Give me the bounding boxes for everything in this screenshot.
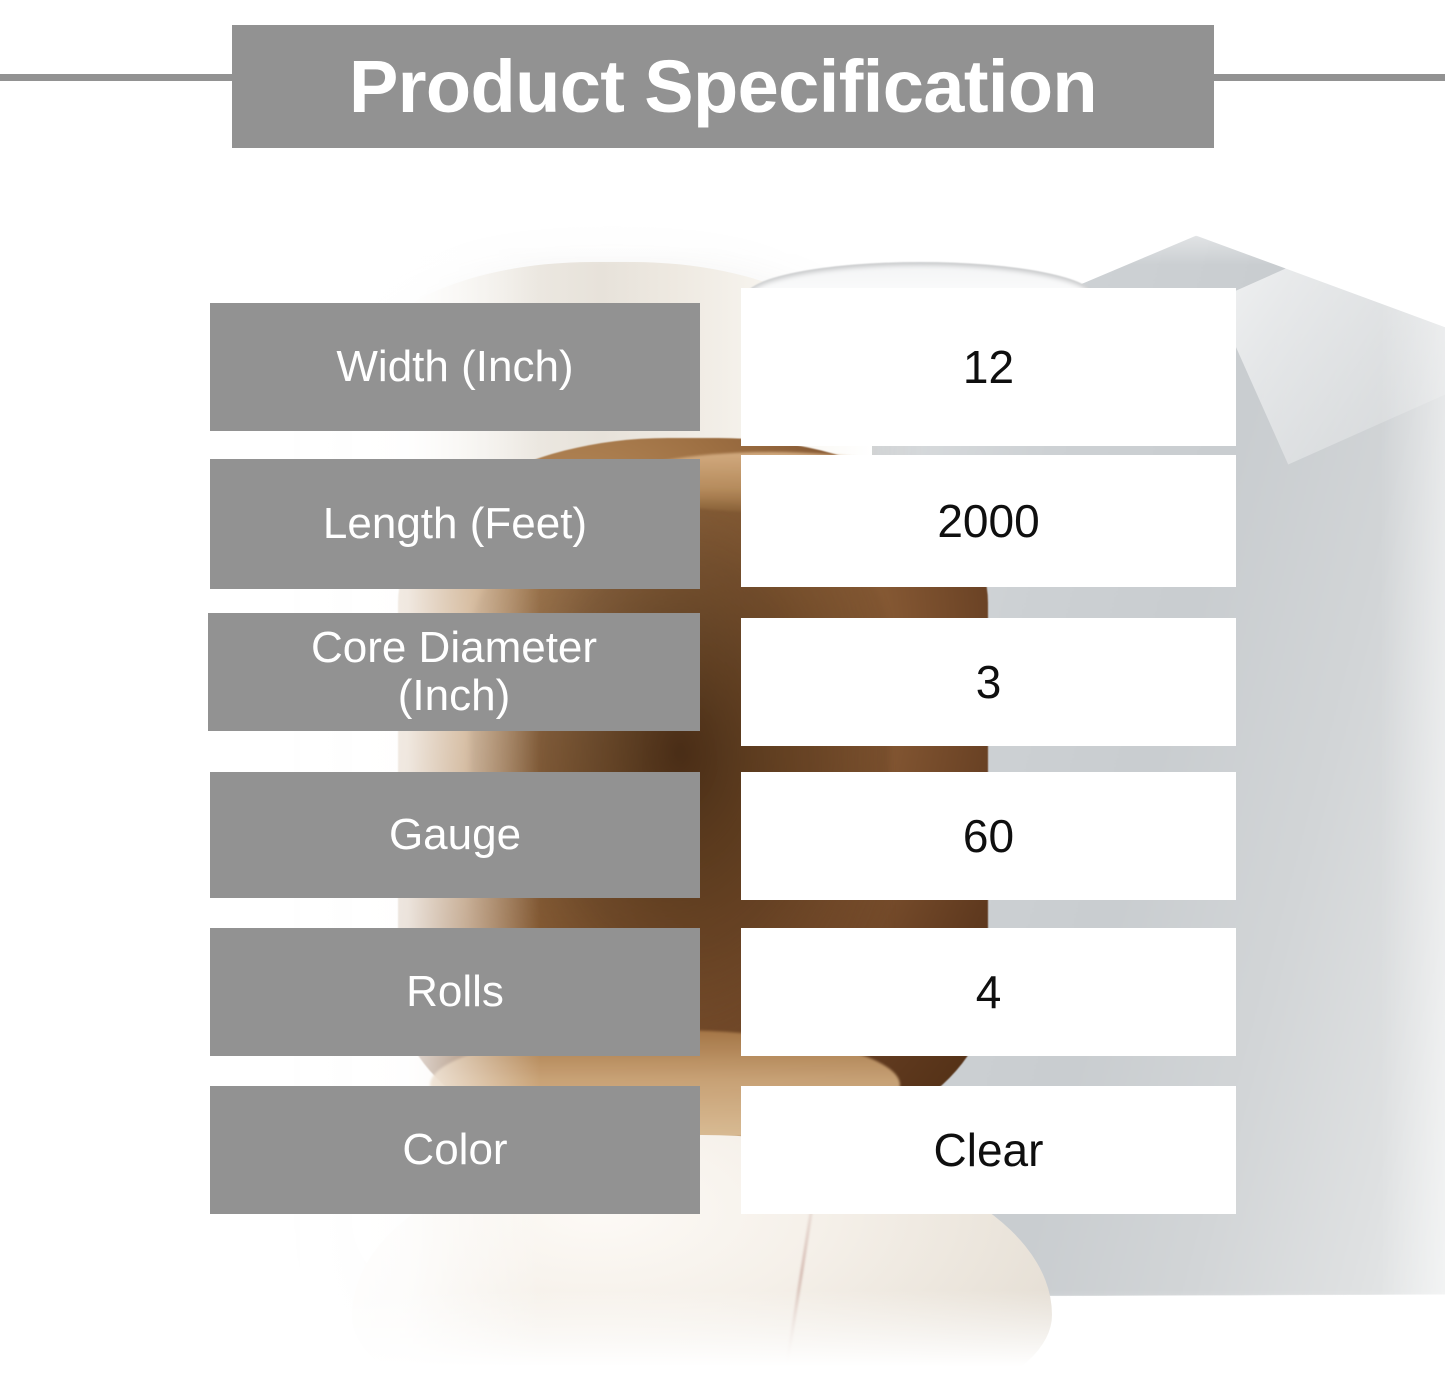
spec-label-width: Width (Inch) xyxy=(210,303,700,431)
spec-value-core-diameter: 3 xyxy=(741,618,1236,746)
spec-label-gauge: Gauge xyxy=(210,772,700,898)
spec-label-core-diameter-line2: (Inch) xyxy=(398,672,510,720)
spec-label-color: Color xyxy=(210,1086,700,1214)
product-specification-infographic: Product Specification Width (Inch) 12 Le… xyxy=(0,0,1445,1374)
spec-label-length: Length (Feet) xyxy=(210,459,700,589)
spec-label-rolls: Rolls xyxy=(210,928,700,1056)
spec-value-rolls: 4 xyxy=(741,928,1236,1056)
spec-value-gauge: 60 xyxy=(741,772,1236,900)
spec-value-width: 12 xyxy=(741,288,1236,446)
spec-label-core-diameter-line1: Core Diameter xyxy=(311,624,597,672)
spec-label-core-diameter: Core Diameter (Inch) xyxy=(208,613,700,731)
spec-value-length: 2000 xyxy=(741,455,1236,587)
spec-value-color: Clear xyxy=(741,1086,1236,1214)
specification-table: Width (Inch) 12 Length (Feet) 2000 Core … xyxy=(0,0,1445,1374)
